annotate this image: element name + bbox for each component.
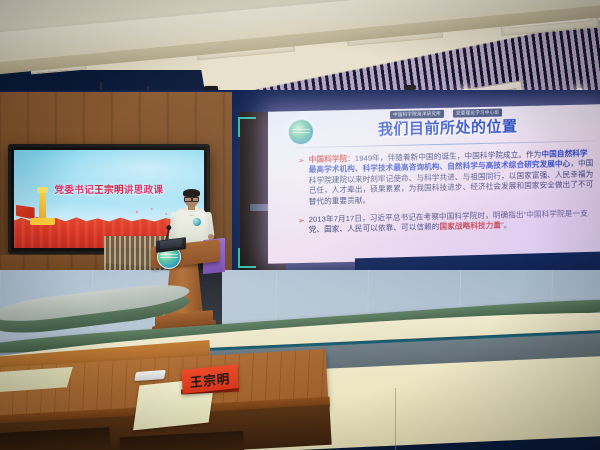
projection-slide: 中国科学院海洋研究所 党委理论学习中心组 我们目前所处的位置 ➢ 中国科学院：1… — [268, 104, 600, 264]
teal-corner-bracket-top — [238, 117, 256, 137]
wall-panel-seam — [395, 388, 396, 450]
institute-globe-logo-icon — [288, 119, 314, 146]
photo-scene: 党委书记王宗明讲思政课 中国科学院海洋研究所 党委理论学习中心组 我们目前所处的… — [0, 0, 600, 450]
slide-divider — [296, 140, 596, 148]
glasses-icon — [184, 197, 199, 201]
bullet-1-text: 中国科学院：1949年，伴随着新中国的诞生，中国科学院成立。作为中国自然科学最高… — [309, 148, 594, 207]
name-placard-text: 王宗明 — [189, 367, 230, 390]
left-title-suffix: 讲思政课 — [124, 185, 164, 196]
polo-logo-icon — [193, 218, 201, 226]
monument-base — [30, 218, 56, 224]
bullet-2-text: 2013年7月17日，习近平总书记在考察中国科学院时，明确指出“中国科学院是一支… — [309, 208, 594, 235]
slide-bullet-2: ➢ 2013年7月17日，习近平总书记在考察中国科学院时，明确指出“中国科学院是… — [298, 208, 594, 236]
slide-title: 我们目前所处的位置 — [378, 113, 593, 139]
bullet-marker-icon: ➢ — [298, 155, 305, 207]
laptop-screen — [160, 239, 182, 250]
slide-bullet-1: ➢ 中国科学院：1949年，伴随着新中国的诞生，中国科学院成立。作为中国自然科学… — [298, 148, 594, 207]
left-title-name: 王宗明 — [94, 185, 124, 196]
left-title-prefix: 党委书记 — [55, 185, 95, 196]
bullet-marker-icon: ➢ — [298, 215, 305, 236]
teal-corner-bracket-bottom — [238, 248, 256, 268]
